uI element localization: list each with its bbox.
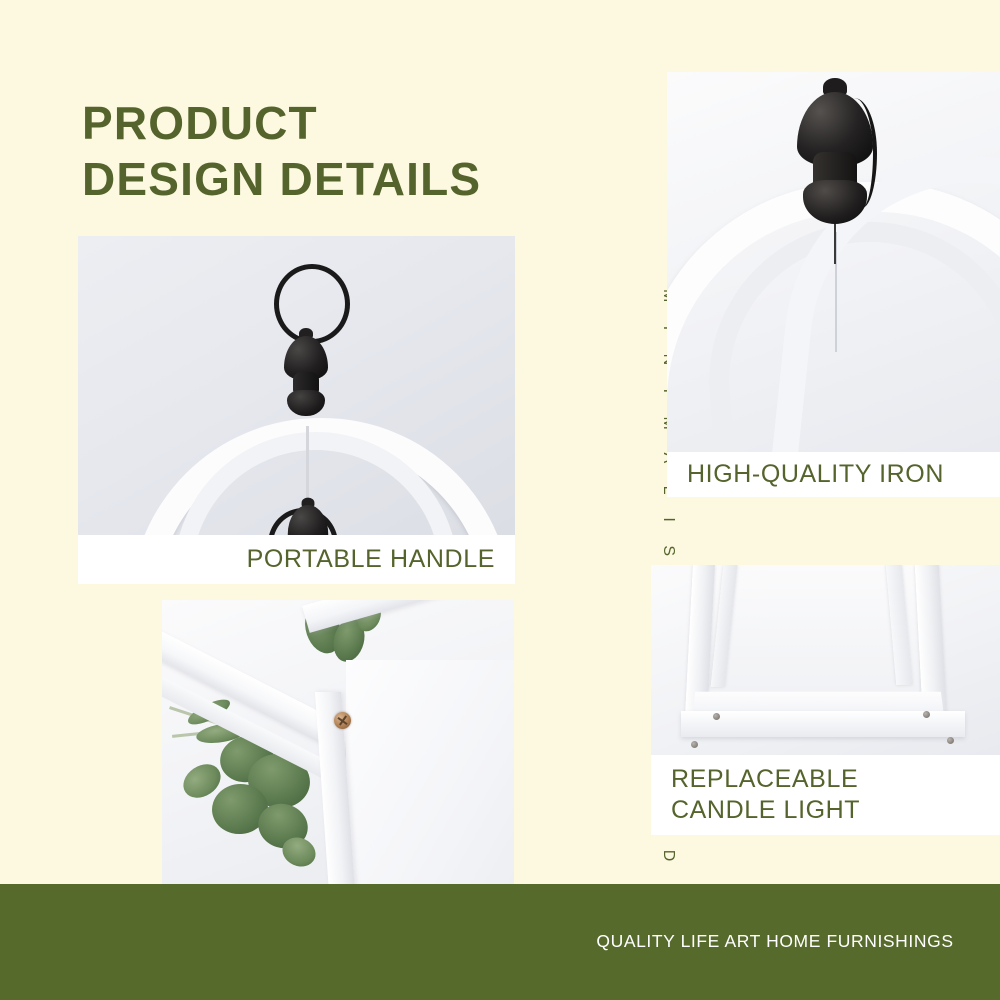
panel-portable-handle: PORTABLE HANDLE <box>78 236 515 584</box>
caption-portable-handle: PORTABLE HANDLE <box>78 535 515 584</box>
finial-bell <box>288 505 328 535</box>
screw-icon <box>713 713 720 720</box>
iron-finial <box>795 78 875 232</box>
page-title: PRODUCT DESIGN DETAILS <box>82 95 481 207</box>
caption-replaceable-candle-light: REPLACEABLE CANDLE LIGHT <box>651 755 1000 835</box>
photo-portable-handle <box>78 236 515 535</box>
finial-base <box>287 390 325 416</box>
panel-high-quality-iron: HIGH-QUALITY IRON <box>667 72 1000 497</box>
panel-replaceable-candle-light: REPLACEABLE CANDLE LIGHT <box>651 565 1000 835</box>
caption-high-quality-iron: HIGH-QUALITY IRON <box>667 452 1000 497</box>
screw-icon <box>334 712 351 729</box>
iron-finial-secondary <box>286 498 330 535</box>
photo-replaceable-candle-light <box>651 565 1000 755</box>
caption-line: REPLACEABLE <box>671 764 1000 795</box>
finial-base <box>803 180 867 224</box>
caption-line: PORTABLE HANDLE <box>78 544 495 575</box>
screw-icon <box>923 711 930 718</box>
page-title-line-1: PRODUCT <box>82 97 318 149</box>
frame-panel-right <box>346 660 514 888</box>
caption-line: CANDLE LIGHT <box>671 795 1000 826</box>
screw-icon <box>947 737 954 744</box>
infographic-canvas: PRODUCT DESIGN DETAILS M I N I M A L I S… <box>0 0 1000 1000</box>
photo-anti-corrosion <box>162 600 514 888</box>
photo-high-quality-iron <box>667 72 1000 452</box>
page-title-line-2: DESIGN DETAILS <box>82 151 481 207</box>
iron-finial <box>282 328 330 420</box>
screw-icon <box>691 741 698 748</box>
footer-brand-text: QUALITY LIFE ART HOME FURNISHINGS <box>560 931 990 952</box>
caption-line: HIGH-QUALITY IRON <box>687 459 1000 490</box>
